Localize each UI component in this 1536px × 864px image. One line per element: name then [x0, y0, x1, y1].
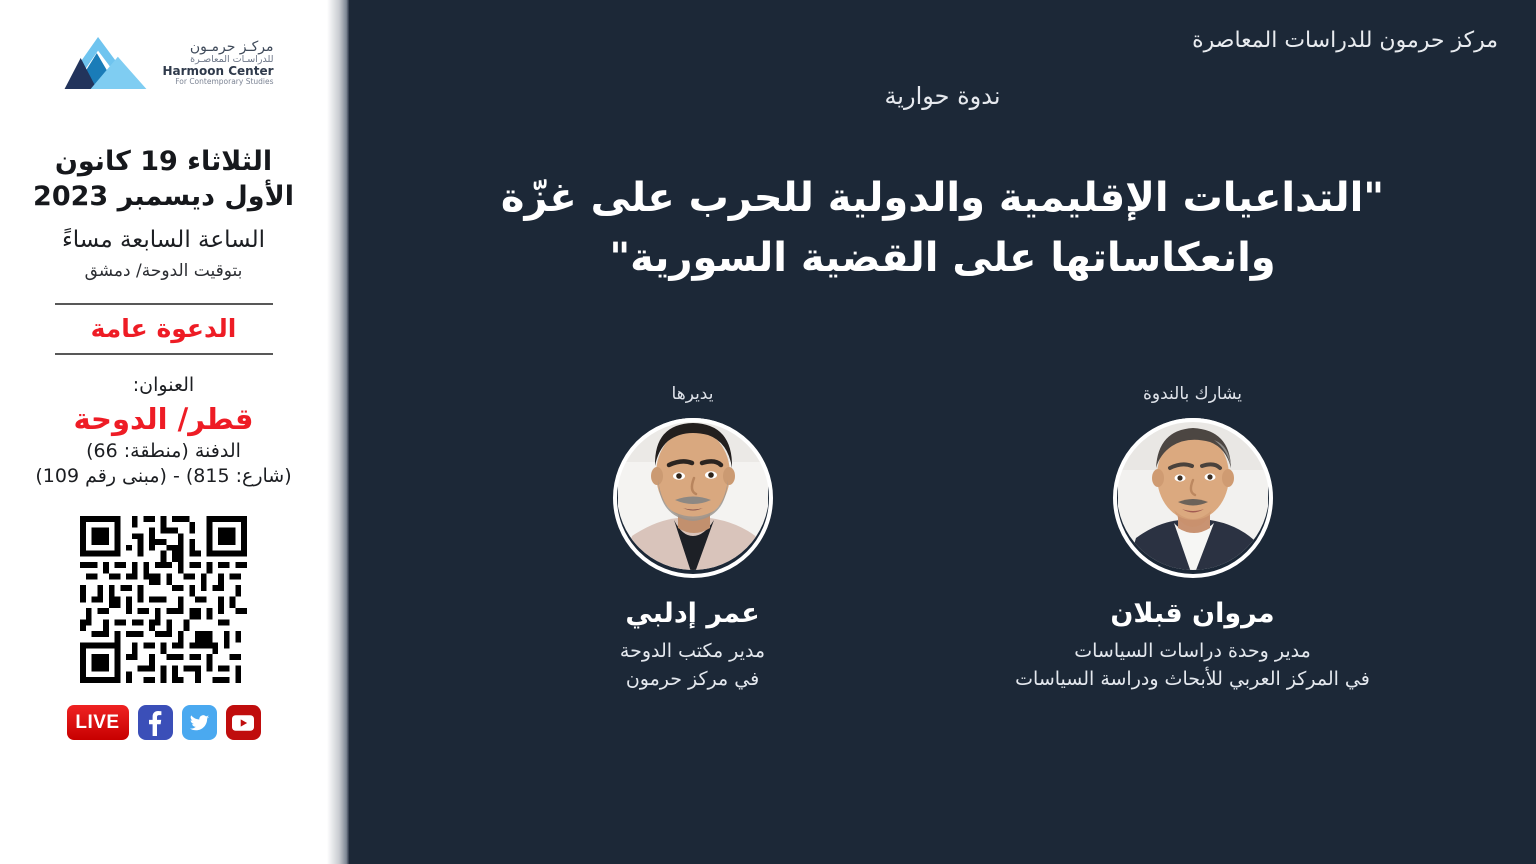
divider-bottom — [55, 353, 273, 355]
address-label: العنوان: — [14, 373, 314, 398]
portrait-photo-omar — [618, 410, 768, 578]
public-invitation-label: الدعوة عامة — [55, 305, 273, 353]
social-links-row: LIVE — [67, 705, 261, 740]
address-city: قطر/ الدوحة — [14, 400, 314, 439]
speaker-name: مروان قبلان — [1110, 596, 1274, 631]
event-timezone: بتوقيت الدوحة/ دمشق — [19, 261, 309, 281]
moderator-role-label: يديرها — [672, 384, 714, 404]
event-time: الساعة السابعة مساءً — [19, 226, 309, 255]
portrait-photo-marwan — [1118, 410, 1268, 578]
address-line-1: الدفنة (منطقة: 66) — [14, 439, 314, 465]
poster-canvas: مركـز حرمـون للدراسـات المعاصـرة Harmoon… — [0, 0, 1536, 864]
organization-name: مركز حرمون للدراسات المعاصرة — [1192, 28, 1498, 53]
qr-code[interactable] — [80, 516, 247, 683]
speaker-title-line-2: في المركز العربي للأبحاث ودراسة السياسات — [1015, 666, 1370, 694]
speaker-card-moderator: يديرها — [513, 384, 873, 693]
logo-english-secondary: For Contemporary Studies — [175, 78, 273, 86]
speakers-row: يشارك بالندوة — [349, 384, 1536, 693]
logo-arabic-primary: مركـز حرمـون — [190, 40, 274, 55]
speaker-role-label: يشارك بالندوة — [1143, 384, 1242, 404]
event-date: الثلاثاء 19 كانون الأول ديسمبر 2023 — [19, 144, 309, 214]
facebook-icon — [148, 710, 162, 736]
logo-wordmark: مركـز حرمـون للدراسـات المعاصـرة Harmoon… — [162, 40, 273, 85]
logo-english-primary: Harmoon Center — [162, 65, 273, 78]
facebook-button[interactable] — [138, 705, 173, 740]
moderator-title-line-1: مدير مكتب الدوحة — [620, 638, 765, 666]
twitter-button[interactable] — [182, 705, 217, 740]
event-type-kicker: ندوة حوارية — [349, 82, 1536, 110]
event-date-block: الثلاثاء 19 كانون الأول ديسمبر 2023 السا… — [19, 144, 309, 281]
main-panel: مركز حرمون للدراسات المعاصرة ندوة حوارية… — [349, 0, 1536, 864]
youtube-icon — [232, 715, 254, 731]
info-sidebar: مركـز حرمـون للدراسـات المعاصـرة Harmoon… — [0, 0, 327, 864]
address-block: العنوان: قطر/ الدوحة الدفنة (منطقة: 66) … — [14, 373, 314, 490]
moderator-name: عمر إدلبي — [625, 596, 759, 631]
moderator-title-line-2: في مركز حرمون — [626, 666, 759, 694]
qr-code-icon — [80, 516, 247, 683]
avatar — [1113, 418, 1273, 578]
harmoon-logo: مركـز حرمـون للدراسـات المعاصـرة Harmoon… — [53, 32, 273, 94]
speaker-card-panelist: يشارك بالندوة — [1013, 384, 1373, 693]
twitter-icon — [189, 714, 210, 732]
address-line-2: (شارع: 815) - (مبنى رقم 109) — [14, 464, 314, 490]
public-invitation-block: الدعوة عامة — [55, 303, 273, 355]
sidebar-edge-shadow — [327, 0, 349, 864]
speaker-title-line-1: مدير وحدة دراسات السياسات — [1074, 638, 1311, 666]
seminar-title: "التداعيات الإقليمية والدولية للحرب على … — [409, 168, 1476, 288]
live-badge[interactable]: LIVE — [67, 705, 129, 740]
youtube-button[interactable] — [226, 705, 261, 740]
mountain-logo-icon — [53, 32, 153, 94]
avatar — [613, 418, 773, 578]
